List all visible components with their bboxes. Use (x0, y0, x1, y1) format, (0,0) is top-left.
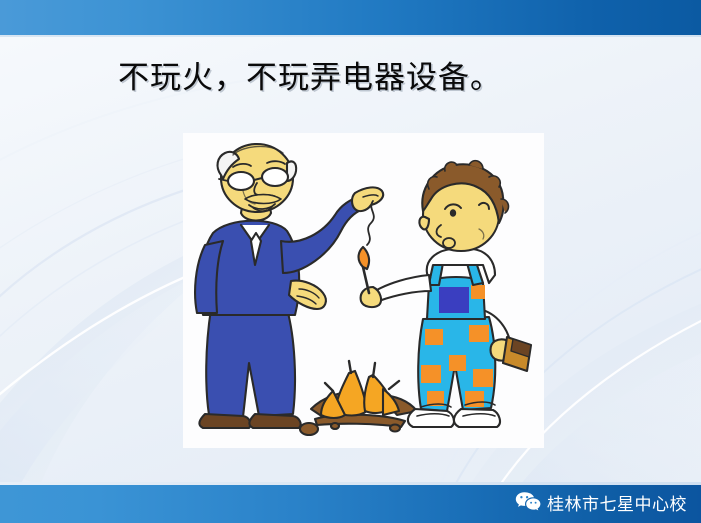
illustration-cartoon-fire-safety (183, 133, 544, 448)
watermark: 桂林市七星中心校 (515, 487, 687, 517)
watermark-label: 桂林市七星中心校 (547, 490, 687, 515)
illustration-panel (183, 133, 544, 448)
wechat-icon (515, 491, 541, 513)
slide-title: 不玩火，不玩弄电器设备。 (118, 58, 588, 99)
top-blue-band (0, 0, 701, 35)
top-band-divider (0, 35, 701, 37)
presentation-slide: 不玩火，不玩弄电器设备。 (0, 0, 701, 523)
page-title: 不玩火，不玩弄电器设备。 (118, 58, 588, 99)
